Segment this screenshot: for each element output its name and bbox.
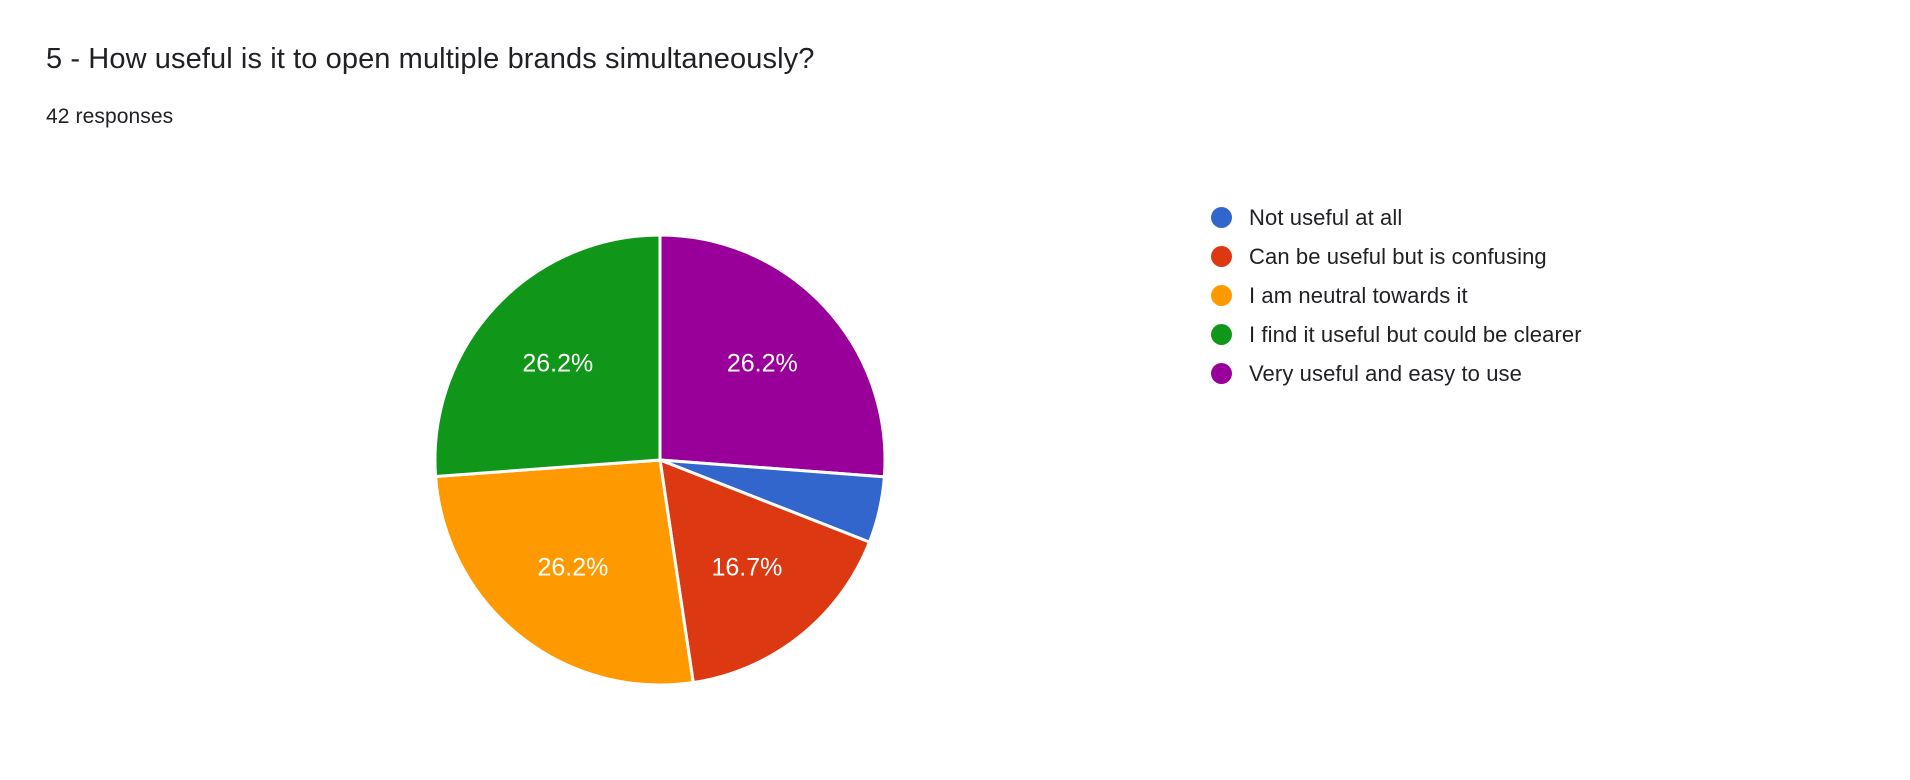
legend-item[interactable]: I am neutral towards it [1211, 276, 1582, 315]
pie-slice-percent-label: 26.2% [537, 554, 608, 582]
legend-item[interactable]: Very useful and easy to use [1211, 354, 1582, 393]
legend-color-swatch-icon [1211, 363, 1232, 384]
legend-color-swatch-icon [1211, 324, 1232, 345]
chart-area: 26.2%16.7%26.2%26.2% Not useful at allCa… [0, 150, 1910, 710]
pie-slice-percent-label: 26.2% [522, 350, 593, 378]
pie-slice-percent-label: 26.2% [727, 350, 798, 378]
legend-item-label: I am neutral towards it [1249, 283, 1468, 309]
legend-item-label: Not useful at all [1249, 205, 1402, 231]
legend-color-swatch-icon [1211, 285, 1232, 306]
chart-legend: Not useful at allCan be useful but is co… [1211, 198, 1582, 393]
legend-color-swatch-icon [1211, 207, 1232, 228]
response-count-label: 42 responses [46, 103, 173, 131]
legend-item-label: Very useful and easy to use [1249, 361, 1522, 387]
form-response-page: 5 - How useful is it to open multiple br… [0, 0, 1910, 780]
legend-item-label: Can be useful but is confusing [1249, 244, 1547, 270]
legend-item-label: I find it useful but could be clearer [1249, 322, 1582, 348]
pie-slice-percent-label: 16.7% [711, 554, 782, 582]
pie-chart-svg: 26.2%16.7%26.2%26.2% [400, 200, 920, 720]
page-title: 5 - How useful is it to open multiple br… [46, 40, 814, 78]
pie-slice-group [435, 235, 885, 685]
legend-item[interactable]: Not useful at all [1211, 198, 1582, 237]
legend-color-swatch-icon [1211, 246, 1232, 267]
pie-chart: 26.2%16.7%26.2%26.2% [400, 200, 920, 720]
legend-item[interactable]: Can be useful but is confusing [1211, 237, 1582, 276]
legend-item[interactable]: I find it useful but could be clearer [1211, 315, 1582, 354]
